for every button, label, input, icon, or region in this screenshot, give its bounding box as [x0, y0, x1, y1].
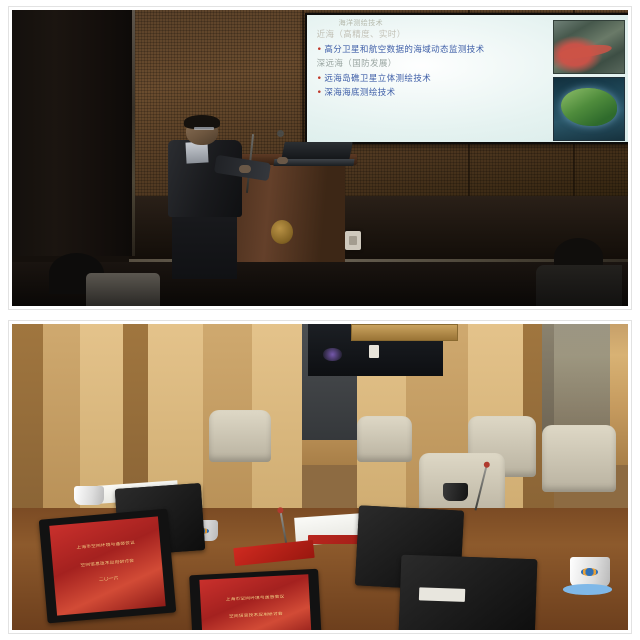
monitor-left-text-line-1: 上海市空间环境与遥感会议: [58, 538, 154, 552]
speaker-hand: [239, 165, 251, 173]
white-mug: [570, 557, 610, 588]
audience-body-right: [536, 265, 622, 306]
presentation-slide: 海洋测绘技术 近海（高精度、实时） 高分卫星和航空数据的海域动态监测技术 深远海…: [307, 15, 628, 142]
wall-outlet: [345, 231, 361, 250]
monitor-left-text-line-2: 空间信息技术应用研讨会: [59, 556, 155, 570]
lecture-hall-photo: 海洋测绘技术 近海（高精度、实时） 高分卫星和航空数据的海域动态监测技术 深远海…: [8, 6, 632, 310]
monitor-asset-label: [419, 587, 466, 602]
conference-room-scene: 上海市空间环境与遥感会议 空间信息技术应用研讨会 二〇一六 上海市空间环境与遥感…: [12, 324, 628, 630]
monitor-back-right[interactable]: [399, 554, 537, 630]
mug-logo: [581, 568, 599, 576]
island-reef-satellite-image: [553, 77, 625, 141]
coffee-cup: [74, 486, 105, 504]
conference-chair: [357, 416, 412, 462]
laptop: [281, 142, 352, 160]
conference-chair: [542, 425, 616, 492]
screen-reflection: [323, 348, 341, 360]
audience-seat-left: [86, 273, 160, 306]
monitor-center-text-line-2: 空间信息技术应用研讨会: [208, 610, 304, 621]
conference-room-photo: 上海市空间环境与遥感会议 空间信息技术应用研讨会 二〇一六 上海市空间环境与遥感…: [8, 320, 632, 634]
monitor-center-text-line-1: 上海市空间环境与遥感会议: [207, 593, 303, 604]
speaker-hand-on-laptop: [277, 157, 288, 164]
microphone-head: [277, 130, 284, 137]
photo-collage: 海洋测绘技术 近海（高精度、实时） 高分卫星和航空数据的海域动态监测技术 深远海…: [0, 0, 640, 640]
coastal-satellite-map: [553, 20, 625, 74]
podium-emblem: [271, 220, 293, 244]
mug-saucer: [563, 584, 612, 595]
wall-frame: [351, 324, 458, 341]
light-switch: [369, 345, 379, 358]
dark-tumbler: [443, 483, 468, 501]
speaker-glasses: [194, 127, 214, 131]
auditorium-scene: 海洋测绘技术 近海（高精度、实时） 高分卫星和航空数据的海域动态监测技术 深远海…: [12, 10, 628, 306]
monitor-center-screen: 上海市空间环境与遥感会议 空间信息技术应用研讨会: [199, 574, 311, 630]
monitor-left-text-line-3: 二〇一六: [61, 572, 157, 586]
monitor-left-screen: 上海市空间环境与遥感会议 空间信息技术应用研讨会 二〇一六: [49, 516, 165, 615]
monitor-left[interactable]: 上海市空间环境与遥感会议 空间信息技术应用研讨会 二〇一六: [39, 508, 177, 623]
monitor-center[interactable]: 上海市空间环境与遥感会议 空间信息技术应用研讨会: [189, 569, 322, 630]
stage-curtain: [12, 10, 135, 256]
conference-chair: [209, 410, 271, 462]
projection-screen: 海洋测绘技术 近海（高精度、实时） 高分卫星和航空数据的海域动态监测技术 深远海…: [305, 13, 628, 144]
